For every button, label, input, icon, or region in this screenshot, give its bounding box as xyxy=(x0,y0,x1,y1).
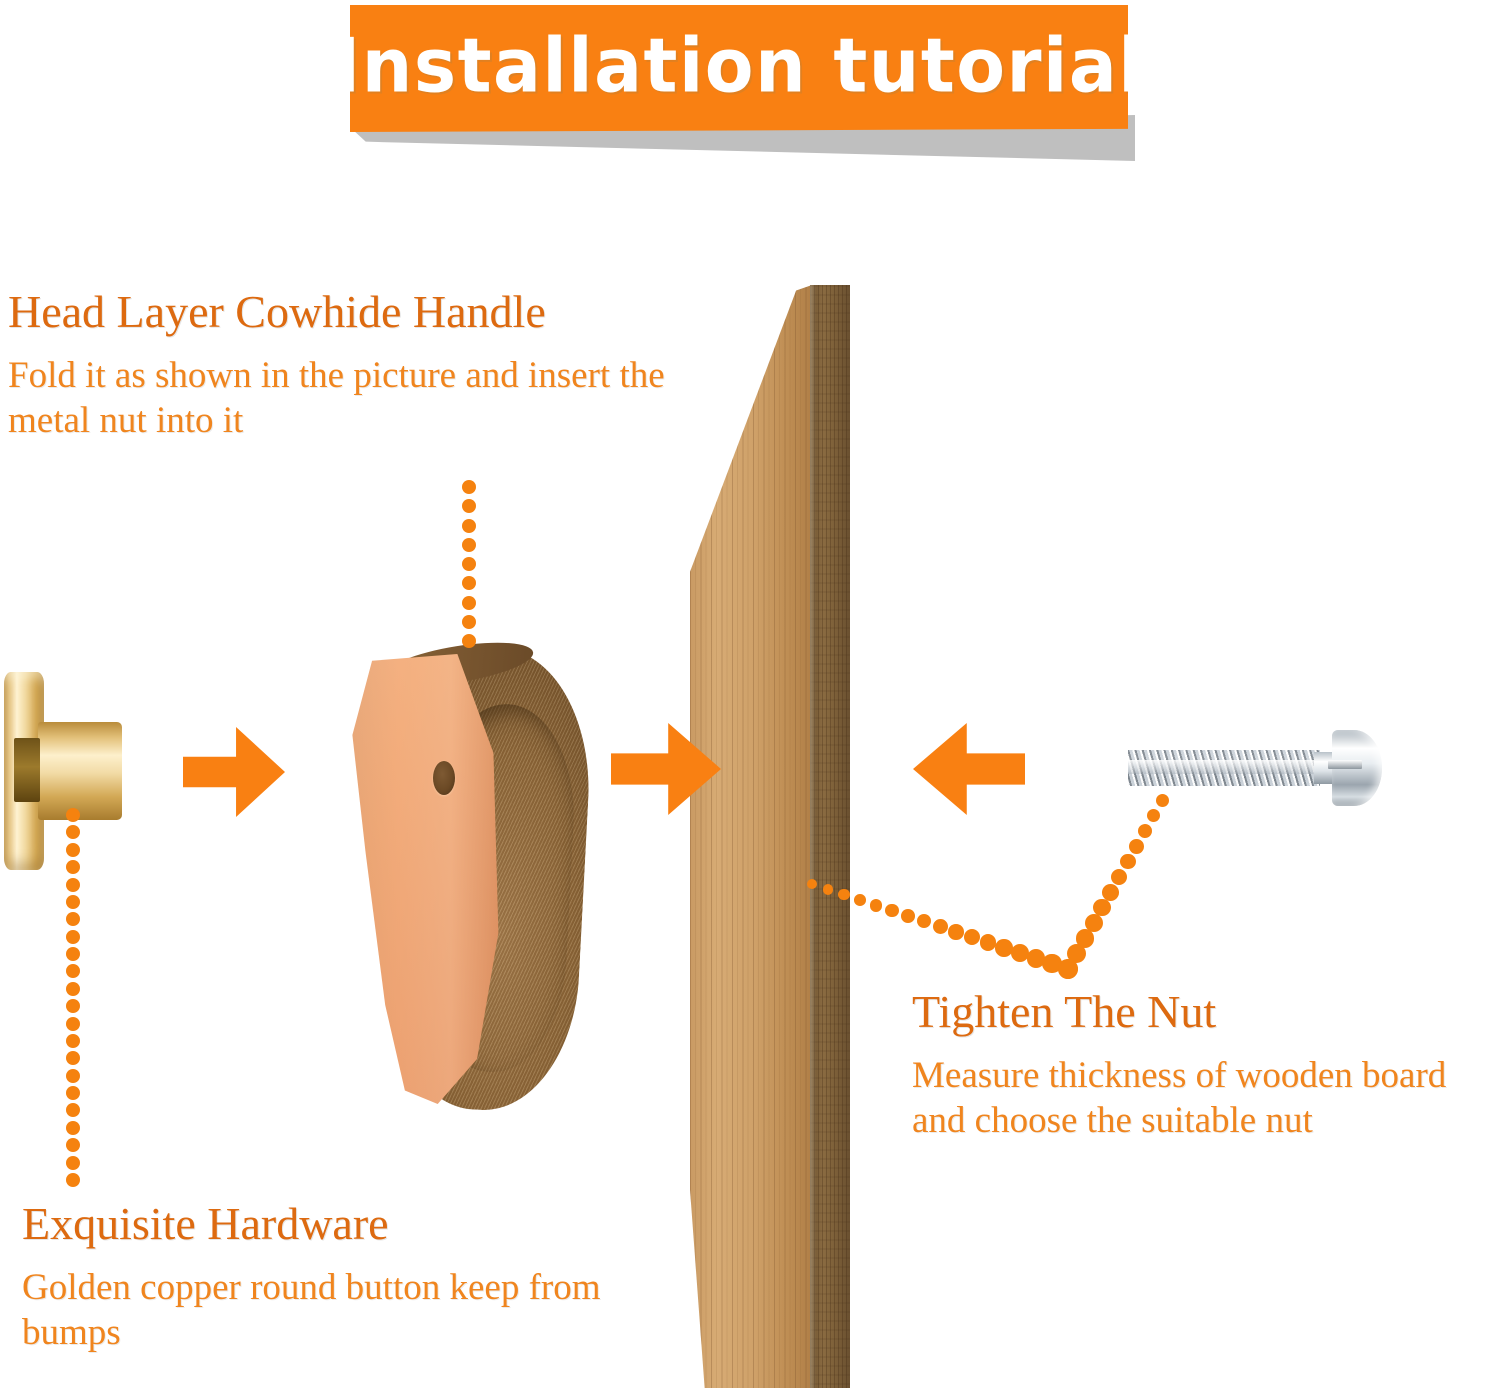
leader-dot xyxy=(462,538,476,552)
leader-dot xyxy=(1102,884,1119,901)
leader-dot xyxy=(66,964,80,978)
nut-bore xyxy=(14,738,40,802)
callout-hardware: Exquisite Hardware Golden copper round b… xyxy=(22,1200,662,1356)
leather-screw-hole xyxy=(433,761,455,795)
brass-nut xyxy=(0,672,134,870)
leader-dot xyxy=(933,919,948,934)
leader-dot xyxy=(66,1156,80,1170)
leader-dot xyxy=(66,1103,80,1117)
leader-dot xyxy=(66,895,80,909)
leader-dot xyxy=(66,878,80,892)
leader-dot xyxy=(66,982,80,996)
leader-dot xyxy=(1111,869,1127,885)
leader-dot xyxy=(462,480,476,494)
leader-dot xyxy=(854,894,866,906)
leather-front-shading xyxy=(336,654,500,1104)
banner: Installation tutorial xyxy=(350,5,1130,157)
callout-nut-title: Tighten The Nut xyxy=(912,988,1492,1036)
page-title: Installation tutorial xyxy=(334,28,1144,103)
leader-dot xyxy=(66,1121,80,1135)
leader-dot xyxy=(66,1173,80,1187)
leader-dot xyxy=(66,808,80,822)
leader-dot xyxy=(66,860,80,874)
leader-dot xyxy=(1085,914,1103,932)
board-edge-highlight xyxy=(810,285,816,1388)
arrow-left-icon xyxy=(913,723,1025,815)
leader-dot xyxy=(964,929,980,945)
leader-dot xyxy=(66,1017,80,1031)
callout-nut: Tighten The Nut Measure thickness of woo… xyxy=(912,988,1492,1144)
leader-dot xyxy=(66,1069,80,1083)
leader-dot xyxy=(901,909,915,923)
arrow-right-icon xyxy=(183,727,285,817)
callout-handle: Head Layer Cowhide Handle Fold it as sho… xyxy=(8,288,708,444)
leader-dot xyxy=(1138,824,1152,838)
screw-drive-slot xyxy=(1328,760,1362,769)
leader-dot xyxy=(66,1034,80,1048)
leader-dot xyxy=(66,1051,80,1065)
leader-dot xyxy=(66,930,80,944)
leader-dot xyxy=(66,1138,80,1152)
leader-dot xyxy=(807,879,817,889)
leader-dot xyxy=(462,557,476,571)
leader-dot xyxy=(462,519,476,533)
leader-dot xyxy=(66,912,80,926)
leader-dot xyxy=(462,596,476,610)
callout-nut-body: Measure thickness of wooden board and ch… xyxy=(912,1053,1492,1143)
callout-hardware-title: Exquisite Hardware xyxy=(22,1200,662,1248)
leader-dot xyxy=(462,576,476,590)
leader-dot xyxy=(885,904,898,917)
leader-dot xyxy=(462,615,476,629)
board-front-face xyxy=(690,285,812,1388)
leader-dot xyxy=(66,947,80,961)
banner-plate: Installation tutorial xyxy=(350,5,1128,132)
leader-dot xyxy=(66,843,80,857)
leather-handle xyxy=(332,640,592,1120)
leader-dot xyxy=(980,934,997,951)
wooden-board xyxy=(690,285,850,1388)
nut-barrel xyxy=(38,722,122,820)
leader-dot xyxy=(823,884,834,895)
leader-dot xyxy=(1120,854,1136,870)
callout-handle-title: Head Layer Cowhide Handle xyxy=(8,288,708,336)
leader-dot xyxy=(917,914,931,928)
leader-dot xyxy=(462,499,476,513)
leader-dot xyxy=(462,634,476,648)
leader-dot xyxy=(870,899,883,912)
leader-dot xyxy=(1156,794,1169,807)
leader-dot xyxy=(838,889,849,900)
installation-tutorial-page: Installation tutorial Head Lay xyxy=(0,0,1500,1388)
leader-dot xyxy=(1129,839,1144,854)
leader-dot xyxy=(66,999,80,1013)
callout-hardware-body: Golden copper round button keep from bum… xyxy=(22,1265,662,1355)
board-side-edge xyxy=(810,285,850,1388)
callout-handle-body: Fold it as shown in the picture and inse… xyxy=(8,353,708,443)
leader-dot xyxy=(948,924,964,940)
screw-shank-highlight xyxy=(1128,760,1320,774)
leader-dot xyxy=(1093,899,1110,916)
leader-dot xyxy=(66,1086,80,1100)
leader-dot xyxy=(1147,809,1161,823)
